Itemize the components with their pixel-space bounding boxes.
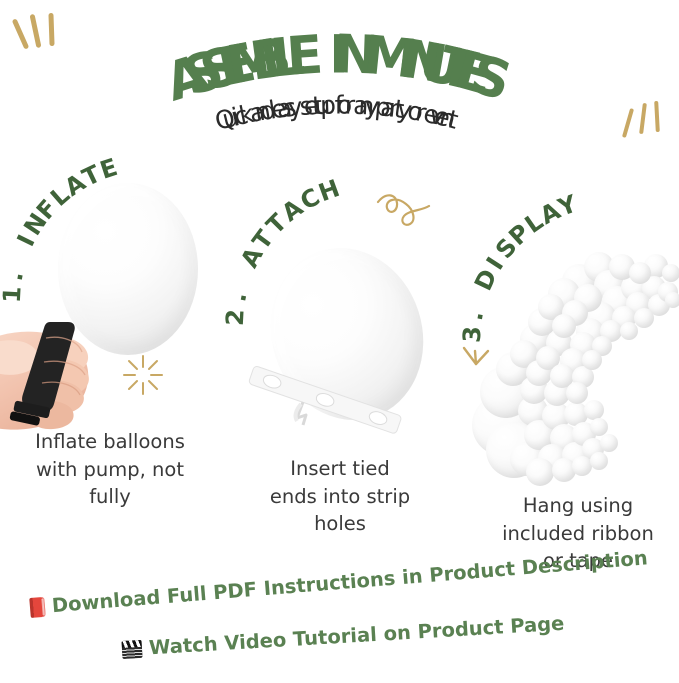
step-2-caption: Insert tiedends into stripholes (240, 455, 440, 538)
instruction-graphic: ASSEMBLE IN MINUTES Quick and easy setup… (0, 0, 679, 683)
caption-line: with pump, not (10, 456, 210, 484)
download-pdf-label: Download Full PDF Instructions in Produc… (51, 546, 648, 617)
garland-balloon (552, 314, 576, 338)
balloon-decorating-strip (243, 358, 403, 453)
garland-balloon (590, 452, 608, 470)
garland-balloon (629, 262, 651, 284)
watch-video-link[interactable]: Watch Video Tutorial on Product Page (121, 612, 565, 661)
step-1-caption: Inflate balloonswith pump, notfully (10, 428, 210, 511)
header: ASSEMBLE IN MINUTES Quick and easy setup… (0, 0, 679, 130)
garland-balloon (662, 264, 679, 282)
step-1-label-char (5, 250, 34, 267)
garland-balloon (634, 308, 654, 328)
step-2-label-char: . (223, 290, 252, 304)
caption-line: holes (240, 510, 440, 538)
step-2-label-char (229, 268, 258, 285)
caption-line: fully (10, 483, 210, 511)
watch-video-label: Watch Video Tutorial on Product Page (148, 612, 565, 660)
caption-line: ends into strip (240, 483, 440, 511)
red-book-icon (29, 597, 46, 618)
download-pdf-link[interactable]: Download Full PDF Instructions in Produc… (29, 546, 648, 619)
garland-balloon (572, 456, 592, 476)
garland-balloon (620, 322, 638, 340)
garland-balloon (526, 458, 554, 486)
step-1-label-char: . (0, 269, 29, 283)
garland-balloon (566, 382, 588, 404)
footer: Download Full PDF Instructions in Produc… (0, 588, 679, 683)
garland-balloon (590, 418, 608, 436)
gold-arrow-down-icon (460, 344, 494, 374)
step-2-label-char: 2 (221, 308, 250, 326)
garland-balloon (584, 400, 604, 420)
step-1-label-char: 1 (0, 286, 27, 304)
clapperboard-icon (121, 640, 142, 659)
garland-balloon (600, 434, 618, 452)
caption-line: Insert tied (240, 455, 440, 483)
garland-balloon (665, 292, 679, 308)
gold-curly-ribbon-icon (374, 190, 436, 236)
caption-line: included ribbon (478, 520, 678, 548)
garland-balloon (582, 350, 602, 370)
caption-line: Inflate balloons (10, 428, 210, 456)
balloon-garland-arch (466, 252, 679, 477)
gold-sparkle-icon (120, 352, 166, 398)
caption-line: Hang using (478, 492, 678, 520)
